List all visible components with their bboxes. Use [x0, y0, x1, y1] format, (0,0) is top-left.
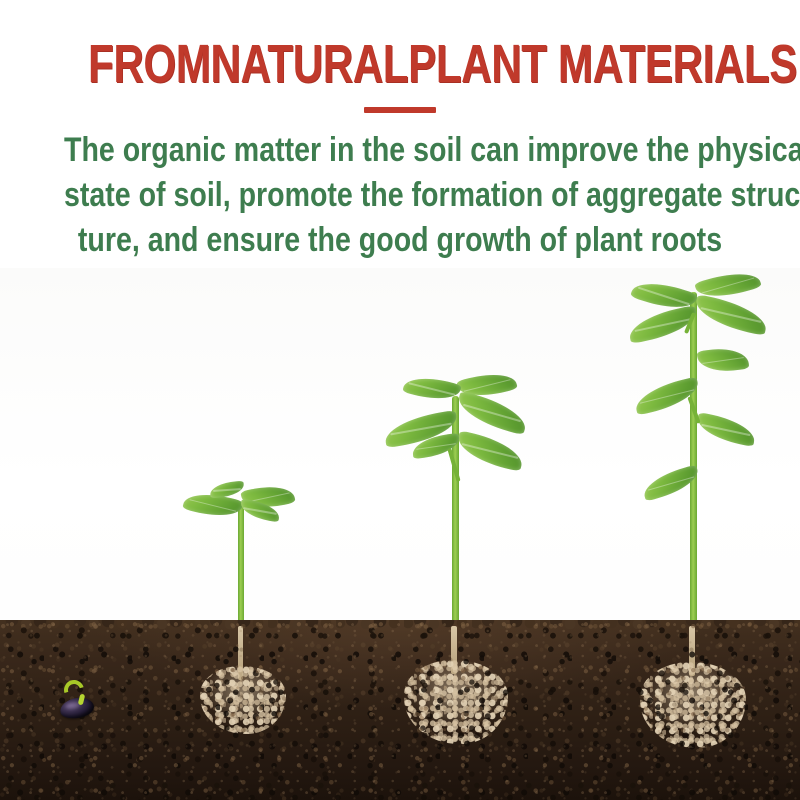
subtitle-line-2: state of soil, promote the formation of …: [64, 173, 736, 218]
header-text-block: FROMNATURALPLANT MATERIALS The organic m…: [0, 0, 800, 268]
plant-seedling-small: [180, 480, 310, 620]
page-title: FROMNATURALPLANT MATERIALS: [88, 36, 712, 92]
leaf: [454, 391, 530, 436]
plant-growth-photo: [0, 268, 800, 800]
germinating-seed: [52, 678, 112, 722]
subtitle-line-1: The organic matter in the soil can impro…: [64, 128, 736, 173]
plant-seedling-large: [640, 268, 800, 620]
title-divider-bar: [364, 107, 436, 113]
poster-root: FROMNATURALPLANT MATERIALS The organic m…: [0, 0, 800, 800]
subtitle-paragraph: The organic matter in the soil can impro…: [0, 128, 800, 263]
soil-fine-texture-layer: [0, 620, 800, 800]
leaf: [694, 412, 757, 447]
leaf: [454, 430, 526, 472]
leaf: [697, 345, 750, 376]
plant-seedling-medium: [390, 370, 550, 620]
leaf: [692, 294, 770, 336]
leaf: [210, 481, 245, 498]
subtitle-line-3: ture, and ensure the good growth of plan…: [64, 218, 736, 263]
soil-cross-section: [0, 620, 800, 800]
